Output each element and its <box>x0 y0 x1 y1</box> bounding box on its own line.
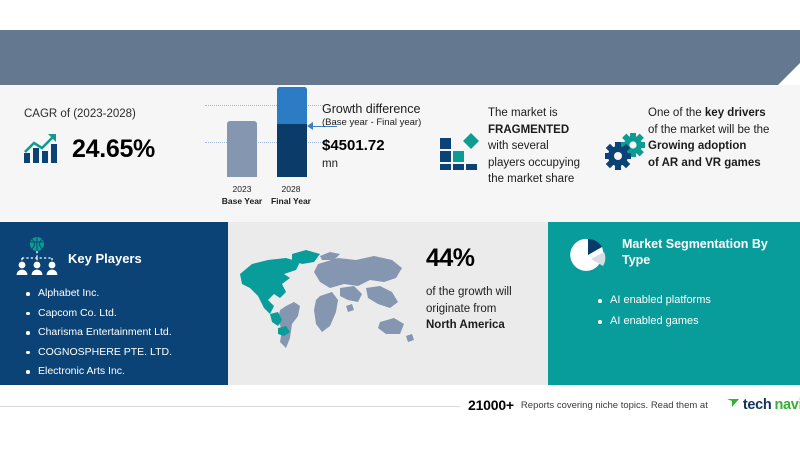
segmentation-list: AI enabled platforms AI enabled games <box>596 290 711 332</box>
drv-line1: One of the <box>648 107 705 119</box>
list-item: COGNOSPHERE PTE. LTD. <box>24 343 172 363</box>
region-text: of the growth will originate from North … <box>426 284 546 334</box>
region-line1: of the growth will <box>426 286 512 298</box>
growth-subtitle: (Base year - Final year) <box>322 117 421 128</box>
highlights-band: CAGR of (2023-2028) 24.65% <box>0 85 800 222</box>
frag-line2: with several <box>488 140 549 152</box>
growth-bar-chart: 2023 Base Year 2028 Final Year <box>205 95 330 207</box>
region-bold: North America <box>426 319 505 331</box>
report-count: 21000+ <box>468 397 514 413</box>
frag-line3: players occupying <box>488 157 580 169</box>
drv-bold3: of AR and VR games <box>648 157 761 169</box>
segmentation-panel: Market Segmentation By Type AI enabled p… <box>548 222 800 385</box>
key-players-list: Alphabet Inc. Capcom Co. Ltd. Charisma E… <box>24 284 172 382</box>
list-item: AI enabled games <box>596 311 711 332</box>
segmentation-header: Market Segmentation By Type <box>570 236 772 279</box>
list-item: Capcom Co. Ltd. <box>24 304 172 324</box>
logo-text-tech: tech <box>743 397 772 413</box>
bar-label-2023: 2023 Base Year <box>215 183 269 207</box>
frag-line4: the market share <box>488 173 574 185</box>
header-band <box>0 30 800 85</box>
bar-2028-growth-segment <box>277 87 307 124</box>
technavio-arrow-icon <box>727 396 740 414</box>
gears-icon <box>604 132 650 170</box>
region-percent: 44% <box>426 244 475 273</box>
growth-bar-chart-icon <box>22 130 62 169</box>
footer: 21000+ Reports covering niche topics. Re… <box>468 396 800 414</box>
key-players-title: Key Players <box>68 251 142 266</box>
drv-line2: of the market will be the <box>648 124 769 136</box>
bar-2023 <box>227 121 257 177</box>
pie-chart-icon <box>570 236 610 279</box>
frag-bold: FRAGMENTED <box>488 124 569 136</box>
cagr-block: 24.65% <box>22 130 155 169</box>
drv-bold2: Growing adoption <box>648 140 746 152</box>
growth-value: $4501.72 <box>322 137 385 154</box>
list-item: Alphabet Inc. <box>24 284 172 304</box>
key-players-panel: Key Players Alphabet Inc. Capcom Co. Ltd… <box>0 222 228 385</box>
drv-bold1: key drivers <box>705 107 766 119</box>
key-players-header: Key Players <box>16 236 142 281</box>
growth-title: Growth difference <box>322 102 421 116</box>
footer-text: Reports covering niche topics. Read them… <box>521 400 708 411</box>
bar-label-2028: 2028 Final Year <box>264 183 318 207</box>
list-item: AI enabled platforms <box>596 290 711 311</box>
footer-divider <box>0 406 460 407</box>
segmentation-title: Market Segmentation By Type <box>622 236 772 268</box>
region-line2: originate from <box>426 303 496 315</box>
world-map <box>234 244 424 364</box>
growth-callout: Growth difference (Base year - Final yea… <box>322 102 421 128</box>
growth-unit: mn <box>322 158 338 170</box>
callout-arrow-icon <box>307 122 313 130</box>
fragmented-squares-icon <box>438 130 482 170</box>
list-item: Charisma Entertainment Ltd. <box>24 323 172 343</box>
key-drivers-text: One of the key drivers of the market wil… <box>648 105 800 171</box>
cagr-label: CAGR of (2023-2028) <box>24 108 136 120</box>
technavio-logo[interactable]: technavio <box>727 396 800 414</box>
logo-text-navio: navio <box>774 397 800 413</box>
infographic-canvas: GLOBAL AI IN GAMES MARKET 2024-2028 CAGR… <box>0 0 800 450</box>
frag-line1: The market is <box>488 107 558 119</box>
globe-network-icon <box>16 236 58 281</box>
list-item: Electronic Arts Inc. <box>24 362 172 382</box>
bar-2028 <box>277 87 307 177</box>
page-title: GLOBAL AI IN GAMES MARKET 2024-2028 <box>28 16 375 35</box>
region-panel: 44% of the growth will originate from No… <box>228 222 548 385</box>
cagr-value: 24.65% <box>72 135 155 164</box>
